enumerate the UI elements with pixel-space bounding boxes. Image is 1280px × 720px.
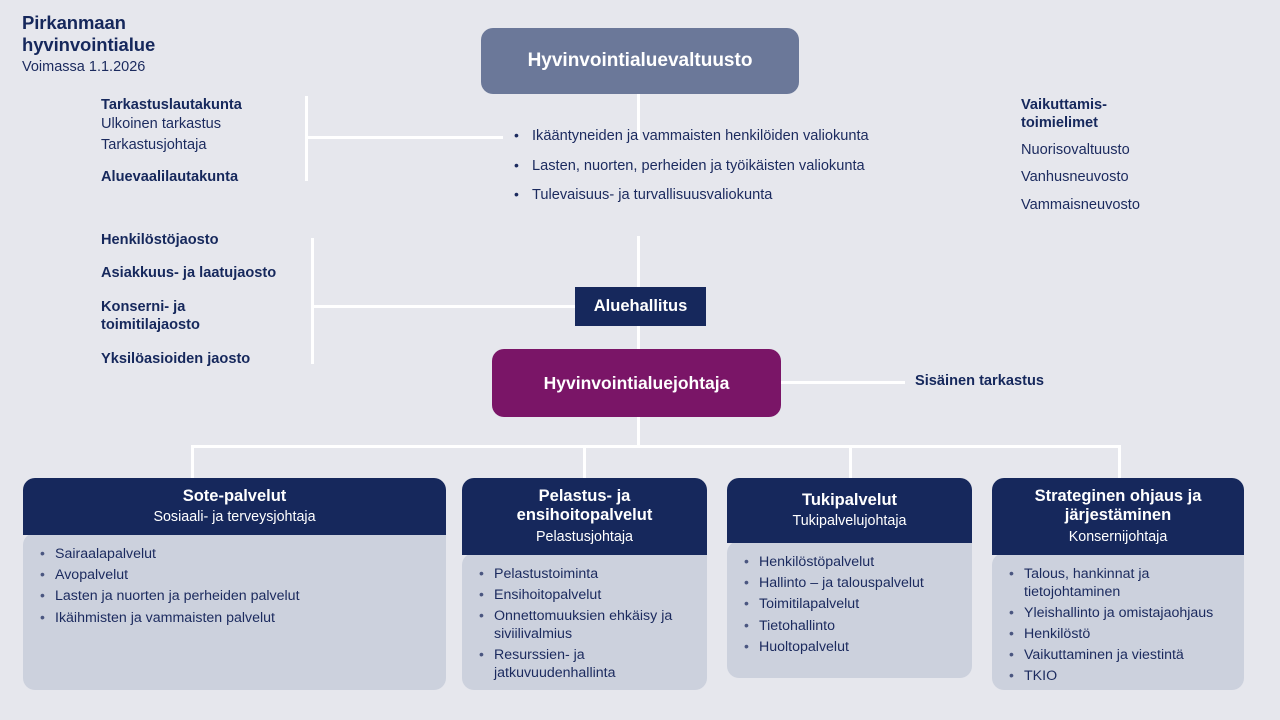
tarkastuslautakunta-item-1: Ulkoinen tarkastus [101,114,316,135]
vaikuttamistoimielimet-heading-line2: toimielimet [1021,114,1261,132]
card-sote-header: Sote-palvelut Sosiaali- ja terveysjohtaj… [23,478,446,535]
group-vaikuttamistoimielimet: Vaikuttamis- toimielimet Nuorisovaltuust… [1021,96,1261,216]
org-chart-canvas: Pirkanmaan hyvinvointialue Voimassa 1.1.… [0,0,1280,720]
list-item: Pelastustoiminta [494,565,695,583]
connector-divisions-bracket-horizontal [311,305,577,308]
list-item: Vaikuttaminen ja viestintä [1024,646,1232,664]
list-item: Huoltopalvelut [759,638,960,656]
card-pelastus-ja-ensihoitopalvelut[interactable]: Pelastus- ja ensihoitopalvelut Pelastusj… [462,478,707,690]
list-item: Lasten ja nuorten ja perheiden palvelut [55,587,434,605]
committee-item: Lasten, nuorten, perheiden ja työikäiste… [532,156,872,177]
brand-title-line1: Pirkanmaan [22,12,302,34]
card-strat-header: Strateginen ohjaus ja järjestäminen Kons… [992,478,1244,555]
node-hyvinvointialuejohtaja[interactable]: Hyvinvointialuejohtaja [492,349,781,417]
node-hyvinvointialuejohtaja-label: Hyvinvointialuejohtaja [544,373,730,394]
list-item: Ensihoitopalvelut [494,586,695,604]
card-strat-title: Strateginen ohjaus ja järjestäminen [1002,487,1234,526]
card-strat-subtitle: Konsernijohtaja [1002,528,1234,547]
card-pelastus-body: Pelastustoiminta Ensihoitopalvelut Onnet… [462,553,707,690]
committee-list-items: Ikääntyneiden ja vammaisten henkilöiden … [512,126,872,206]
jaosto-item-konserni-toimitila: Konserni- ja toimitilajaosto [101,298,231,335]
connector-board-to-director [637,326,640,349]
card-pelastus-subtitle: Pelastusjohtaja [472,528,697,547]
connector-internal-audit [781,381,905,384]
list-item: Yleishallinto ja omistajaohjaus [1024,604,1232,622]
list-item: Sairaalapalvelut [55,545,434,563]
list-item: Onnettomuuksien ehkäisy ja siviilivalmiu… [494,607,695,643]
list-item: TKIO [1024,667,1232,685]
node-hyvinvointialuevaltuusto[interactable]: Hyvinvointialuevaltuusto [481,28,799,94]
tarkastuslautakunta-item-2: Tarkastusjohtaja [101,135,316,156]
group-tarkastuslautakunta: Tarkastuslautakunta Ulkoinen tarkastus T… [101,96,316,186]
brand-header: Pirkanmaan hyvinvointialue Voimassa 1.1.… [22,12,302,75]
card-sote-title: Sote-palvelut [33,487,436,506]
connector-drop-strat [1118,445,1121,480]
card-tuki-subtitle: Tukipalvelujohtaja [737,512,962,531]
list-item: Toimitilapalvelut [759,595,960,613]
list-item: Avopalvelut [55,566,434,584]
card-tuki-body: Henkilöstöpalvelut Hallinto – ja talousp… [727,541,972,678]
committee-item: Tulevaisuus- ja turvallisuusvaliokunta [532,185,872,206]
connector-drop-tuki [849,445,852,480]
spacer [101,156,316,168]
brand-title-line2: hyvinvointialue [22,34,302,56]
node-sisainen-tarkastus: Sisäinen tarkastus [915,373,1044,389]
card-tuki-list: Henkilöstöpalvelut Hallinto – ja talousp… [737,553,960,656]
jaosto-item-yksiloasioiden: Yksilöasioiden jaosto [101,350,316,368]
connector-committees-to-board [637,236,640,287]
vaikuttamistoimielimet-item-vanhusneuvosto: Vanhusneuvosto [1021,167,1261,188]
list-item: Henkilöstö [1024,625,1232,643]
card-sote-palvelut[interactable]: Sote-palvelut Sosiaali- ja terveysjohtaj… [23,478,446,690]
card-pelastus-title: Pelastus- ja ensihoitopalvelut [472,487,697,526]
list-item: Resurssien- ja jatkuvuudenhallinta [494,646,695,682]
aluevaalilautakunta-heading: Aluevaalilautakunta [101,168,316,186]
connector-service-bus [191,445,1121,448]
connector-director-down [637,417,640,446]
group-jaostot: Henkilöstöjaosto Asiakkuus- ja laatujaos… [101,231,316,368]
card-pelastus-list: Pelastustoiminta Ensihoitopalvelut Onnet… [472,565,695,683]
connector-audit-bracket-horizontal [308,136,503,139]
card-tuki-header: Tukipalvelut Tukipalvelujohtaja [727,478,972,543]
node-hyvinvointialuevaltuusto-label: Hyvinvointialuevaltuusto [528,50,753,72]
card-tukipalvelut[interactable]: Tukipalvelut Tukipalvelujohtaja Henkilös… [727,478,972,678]
card-strat-body: Talous, hankinnat ja tietojohtaminen Yle… [992,553,1244,690]
vaikuttamistoimielimet-item-nuorisovaltuusto: Nuorisovaltuusto [1021,140,1261,161]
node-aluehallitus-label: Aluehallitus [594,297,688,316]
brand-validity: Voimassa 1.1.2026 [22,59,302,75]
card-strateginen-ohjaus-ja-jarjestaminen[interactable]: Strateginen ohjaus ja järjestäminen Kons… [992,478,1244,690]
list-item: Hallinto – ja talouspalvelut [759,574,960,592]
tarkastuslautakunta-heading: Tarkastuslautakunta [101,96,316,114]
card-pelastus-header: Pelastus- ja ensihoitopalvelut Pelastusj… [462,478,707,555]
jaosto-item-asiakkuus-laatu: Asiakkuus- ja laatujaosto [101,264,316,282]
card-sote-subtitle: Sosiaali- ja terveysjohtaja [33,508,436,527]
list-item: Ikäihmisten ja vammaisten palvelut [55,609,434,627]
vaikuttamistoimielimet-item-vammaisneuvosto: Vammaisneuvosto [1021,195,1261,216]
jaosto-item-henkilosto: Henkilöstöjaosto [101,231,316,249]
list-item: Talous, hankinnat ja tietojohtaminen [1024,565,1232,601]
card-sote-list: Sairaalapalvelut Avopalvelut Lasten ja n… [33,545,434,627]
node-aluehallitus[interactable]: Aluehallitus [575,287,706,326]
card-tuki-title: Tukipalvelut [737,491,962,510]
connector-drop-sote [191,445,194,480]
card-strat-list: Talous, hankinnat ja tietojohtaminen Yle… [1002,565,1232,686]
list-item: Tietohallinto [759,617,960,635]
committee-item: Ikääntyneiden ja vammaisten henkilöiden … [532,126,872,147]
connector-drop-pelastus [583,445,586,480]
list-item: Henkilöstöpalvelut [759,553,960,571]
vaikuttamistoimielimet-heading-line1: Vaikuttamis- [1021,96,1261,114]
card-sote-body: Sairaalapalvelut Avopalvelut Lasten ja n… [23,533,446,690]
committee-list: Ikääntyneiden ja vammaisten henkilöiden … [512,126,872,215]
